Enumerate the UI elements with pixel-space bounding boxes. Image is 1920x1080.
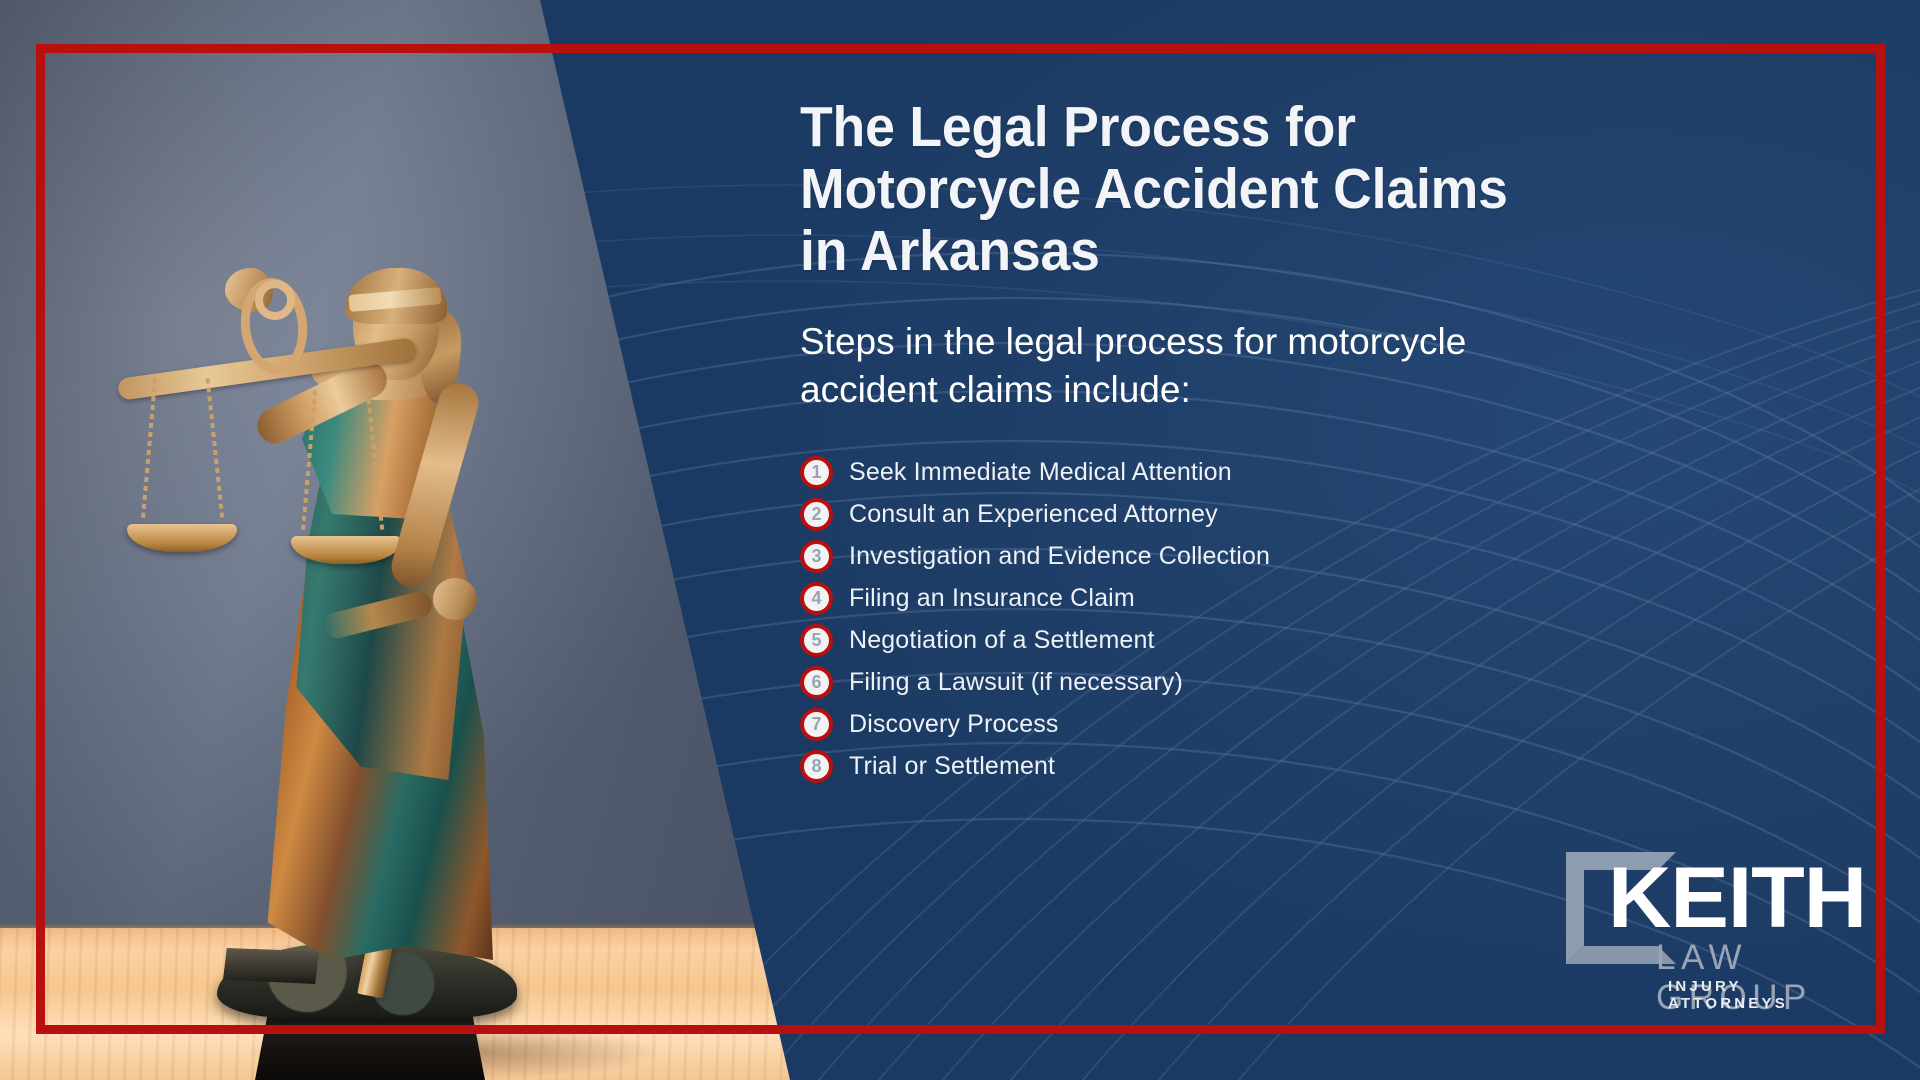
scales-ornament-small [255,280,295,320]
legal-process-step: 5Negotiation of a Settlement [800,619,1800,661]
step-label: Trial or Settlement [849,752,1055,781]
keith-law-group-logo[interactable]: KEITH LAW GROUP INJURY ATTORNEYS [1560,842,1850,990]
legal-process-step: 4Filing an Insurance Claim [800,577,1800,619]
statue-hand-lower [433,578,477,620]
legal-process-step: 8Trial or Settlement [800,745,1800,787]
page-title-line-2: Motorcycle Accident Claims [800,157,1508,221]
legal-process-steps-list: 1Seek Immediate Medical Attention2Consul… [800,451,1800,787]
legal-process-step: 2Consult an Experienced Attorney [800,493,1800,535]
statue-plinth [255,1008,485,1080]
step-number-badge: 4 [800,582,833,615]
step-number-badge: 3 [800,540,833,573]
content-block: The Legal Process for Motorcycle Acciden… [800,96,1800,787]
step-label: Investigation and Evidence Collection [849,542,1270,571]
step-label: Negotiation of a Settlement [849,626,1155,655]
legal-process-step: 7Discovery Process [800,703,1800,745]
legal-process-step: 1Seek Immediate Medical Attention [800,451,1800,493]
scales-chain [141,378,157,520]
step-number-badge: 7 [800,708,833,741]
step-number-badge: 1 [800,456,833,489]
step-number-badge: 8 [800,750,833,783]
step-label: Consult an Experienced Attorney [849,500,1218,529]
infographic-canvas: The Legal Process for Motorcycle Acciden… [0,0,1920,1080]
page-subtitle-line-1: Steps in the legal process for motorcycl… [800,321,1466,362]
logo-subtagline: INJURY ATTORNEYS [1668,978,1850,1012]
step-number-badge: 2 [800,498,833,531]
legal-process-step: 3Investigation and Evidence Collection [800,535,1800,577]
page-title-line-1: The Legal Process for [800,95,1356,159]
scales-chain [206,378,225,520]
step-number-badge: 6 [800,666,833,699]
lady-justice-statue-icon [95,70,655,1080]
statue-books [223,948,319,984]
logo-wordmark: KEITH [1608,862,1866,936]
step-label: Discovery Process [849,710,1059,739]
page-title-line-3: in Arkansas [800,219,1100,283]
page-title: The Legal Process for Motorcycle Acciden… [800,96,1740,282]
step-label: Filing an Insurance Claim [849,584,1135,613]
step-label: Seek Immediate Medical Attention [849,458,1232,487]
page-subtitle: Steps in the legal process for motorcycl… [800,318,1580,413]
step-label: Filing a Lawsuit (if necessary) [849,668,1183,697]
legal-process-step: 6Filing a Lawsuit (if necessary) [800,661,1800,703]
page-subtitle-line-2: accident claims include: [800,369,1191,410]
scales-pan-left [127,524,237,552]
step-number-badge: 5 [800,624,833,657]
